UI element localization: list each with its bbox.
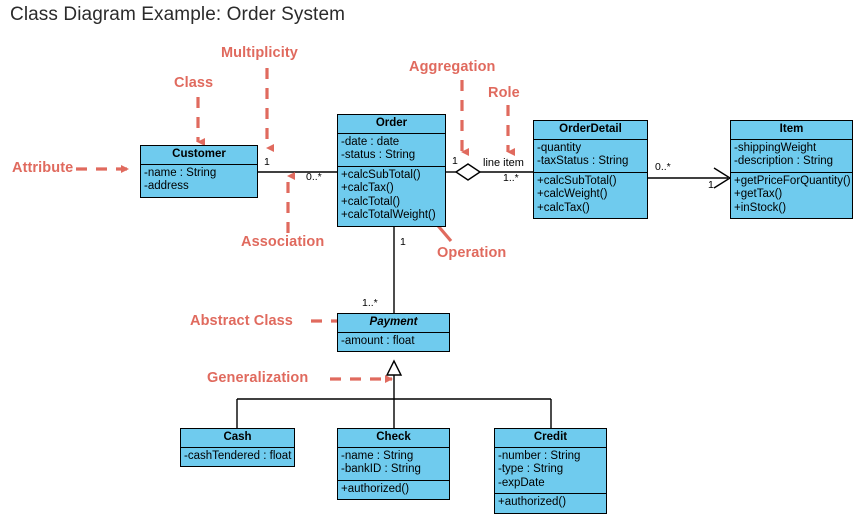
attribute-row: -cashTendered : float — [181, 450, 294, 464]
class-box-cash[interactable]: Cash -cashTendered : float — [180, 428, 295, 467]
class-box-check[interactable]: Check -name : String -bankID : String +a… — [337, 428, 450, 500]
attributes-customer: -name : String -address — [141, 165, 257, 197]
operations-orderdetail: +calcSubTotal() +calcWeight() +calcTax() — [534, 172, 647, 219]
attribute-row: -shippingWeight — [731, 142, 852, 156]
attributes-order: -date : date -status : String — [338, 134, 445, 166]
attribute-row: -description : String — [731, 155, 852, 169]
page-title: Class Diagram Example: Order System — [10, 4, 345, 26]
attributes-item: -shippingWeight -description : String — [731, 140, 852, 172]
annotation-label-attribute: Attribute — [12, 160, 73, 176]
annotation-label-abstract-class: Abstract Class — [190, 313, 293, 329]
annotation-label-operation: Operation — [437, 245, 506, 261]
attributes-orderdetail: -quantity -taxStatus : String — [534, 140, 647, 172]
attributes-payment: -amount : float — [338, 333, 449, 352]
class-box-payment[interactable]: Payment -amount : float — [337, 313, 450, 352]
class-name-customer: Customer — [141, 146, 257, 165]
operations-credit: +authorized() — [495, 493, 606, 513]
class-box-orderdetail[interactable]: OrderDetail -quantity -taxStatus : Strin… — [533, 120, 648, 219]
class-box-order[interactable]: Order -date : date -status : String +cal… — [337, 114, 446, 227]
navigable-arrow-icon — [714, 168, 730, 188]
class-box-item[interactable]: Item -shippingWeight -description : Stri… — [730, 120, 853, 219]
class-box-customer[interactable]: Customer -name : String -address — [140, 145, 258, 198]
attribute-row: -expDate — [495, 477, 606, 491]
class-name-credit: Credit — [495, 429, 606, 448]
multiplicity-customer-order-target: 0..* — [306, 171, 322, 183]
attribute-row: -type : String — [495, 463, 606, 477]
multiplicity-order-payment-target: 1..* — [362, 297, 378, 309]
operation-row: +calcWeight() — [534, 188, 647, 202]
annotation-label-association: Association — [241, 234, 324, 250]
operation-row: +calcTax() — [534, 202, 647, 216]
multiplicity-orderdetail-item-source: 0..* — [655, 161, 671, 173]
attribute-row: -name : String — [338, 450, 449, 464]
class-name-cash: Cash — [181, 429, 294, 448]
annotation-label-aggregation: Aggregation — [409, 59, 496, 75]
operation-row: +calcTotal() — [338, 196, 445, 210]
attribute-row: -date : date — [338, 136, 445, 150]
multiplicity-orderdetail-item-target: 1 — [708, 179, 714, 191]
class-name-orderdetail: OrderDetail — [534, 121, 647, 140]
attribute-row: -bankID : String — [338, 463, 449, 477]
operations-order: +calcSubTotal() +calcTax() +calcTotal() … — [338, 166, 445, 226]
attribute-row: -quantity — [534, 142, 647, 156]
attribute-row: -address — [141, 180, 257, 194]
aggregation-diamond-icon — [456, 164, 480, 180]
class-box-credit[interactable]: Credit -number : String -type : String -… — [494, 428, 607, 514]
class-diagram-canvas: Class Diagram Example: Order System Cust… — [0, 0, 864, 523]
annotation-label-role: Role — [488, 85, 520, 101]
attributes-check: -name : String -bankID : String — [338, 448, 449, 480]
attribute-row: -taxStatus : String — [534, 155, 647, 169]
operation-row: +getPriceForQuantity() — [731, 175, 852, 189]
operation-row: +authorized() — [338, 483, 449, 497]
role-label-line-item: line item — [483, 157, 524, 169]
attributes-credit: -number : String -type : String -expDate — [495, 448, 606, 494]
multiplicity-customer-order-source: 1 — [264, 156, 270, 168]
generalization-triangle-icon — [387, 361, 401, 375]
class-name-order: Order — [338, 115, 445, 134]
operation-row: +calcSubTotal() — [534, 175, 647, 189]
multiplicity-order-payment-source: 1 — [400, 236, 406, 248]
attribute-row: -status : String — [338, 149, 445, 163]
attributes-cash: -cashTendered : float — [181, 448, 294, 467]
operation-row: +calcTotalWeight() — [338, 209, 445, 223]
attribute-row: -number : String — [495, 450, 606, 464]
annotation-label-class: Class — [174, 75, 213, 91]
class-name-check: Check — [338, 429, 449, 448]
multiplicity-order-orderdetail-source: 1 — [452, 155, 458, 167]
class-name-payment: Payment — [338, 314, 449, 333]
operation-row: +inStock() — [731, 202, 852, 216]
operation-row: +calcTax() — [338, 182, 445, 196]
class-name-item: Item — [731, 121, 852, 140]
annotation-label-multiplicity: Multiplicity — [221, 45, 298, 61]
attribute-row: -amount : float — [338, 335, 449, 349]
operations-item: +getPriceForQuantity() +getTax() +inStoc… — [731, 172, 852, 219]
operation-row: +calcSubTotal() — [338, 169, 445, 183]
operation-row: +authorized() — [495, 496, 606, 510]
operations-check: +authorized() — [338, 480, 449, 500]
annotation-label-generalization: Generalization — [207, 370, 308, 386]
attribute-row: -name : String — [141, 167, 257, 181]
multiplicity-order-orderdetail-target: 1..* — [503, 172, 519, 184]
operation-row: +getTax() — [731, 188, 852, 202]
